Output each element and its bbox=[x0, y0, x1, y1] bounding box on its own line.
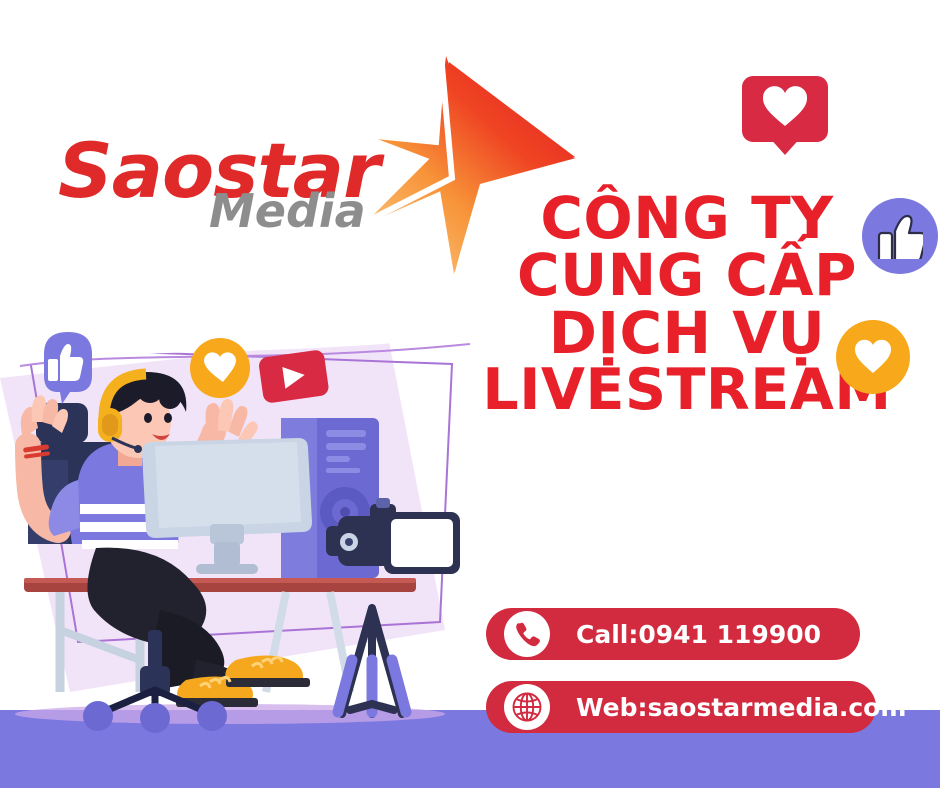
chair-wheel bbox=[83, 701, 113, 731]
phone-icon bbox=[504, 611, 550, 657]
livestreamer-illustration bbox=[0, 330, 470, 750]
chair-wheel bbox=[197, 701, 227, 731]
brand-name-secondary: Media bbox=[209, 184, 366, 238]
call-button-label: Call:0941 119900 bbox=[576, 620, 821, 649]
poster-canvas: Saostar Media CÔNG TY CUNG CẤP DỊCH VỤ L… bbox=[0, 0, 940, 788]
heart-circle-icon bbox=[836, 320, 910, 394]
chair-wheel bbox=[140, 703, 170, 733]
globe-icon bbox=[504, 684, 550, 730]
web-button[interactable]: Web:saostarmedia.com bbox=[486, 681, 876, 733]
heart-bubble-icon bbox=[742, 76, 828, 142]
youtube-sticker bbox=[258, 349, 330, 404]
call-button[interactable]: Call:0941 119900 bbox=[486, 608, 860, 660]
web-button-label: Web:saostarmedia.com bbox=[576, 693, 906, 722]
brand-logo[interactable]: Saostar Media bbox=[58, 112, 518, 287]
thumbs-up-circle-icon bbox=[862, 198, 938, 274]
headline-line-2: CUNG CẤP bbox=[452, 247, 922, 304]
heart-sticker bbox=[190, 338, 250, 398]
headline-line-1: CÔNG TY bbox=[452, 190, 922, 247]
